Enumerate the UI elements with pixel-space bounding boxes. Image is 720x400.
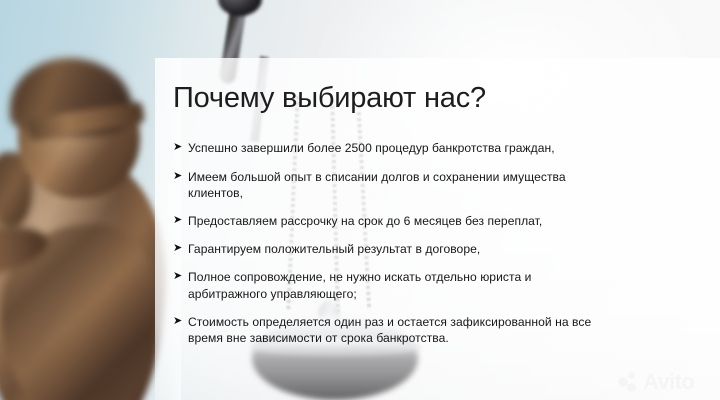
list-item-label: Полное сопровождение, не нужно искать от… [188,270,531,300]
avito-logo-icon [618,372,640,393]
arrow-bullet-icon: ➤ [173,241,182,257]
content-area: Почему выбирают нас? ➤ Успешно завершили… [173,58,703,346]
lady-justice-statue-icon [0,34,181,400]
promo-slide: Почему выбирают нас? ➤ Успешно завершили… [0,0,720,400]
list-item-label: Имеем большой опыт в списании долгов и с… [188,170,566,200]
list-item: ➤ Полное сопровождение, не нужно искать … [173,269,612,301]
list-item-label: Стоимость определяется один раз и остает… [188,315,591,345]
avito-dot [627,383,636,392]
arrow-bullet-icon: ➤ [173,169,182,185]
page-title: Почему выбирают нас? [173,58,703,114]
list-item: ➤ Успешно завершили более 2500 процедур … [173,140,703,156]
arrow-bullet-icon: ➤ [173,269,182,285]
avito-dot [628,372,635,379]
list-item-label: Гарантируем положительный результат в до… [188,242,480,256]
benefits-list: ➤ Успешно завершили более 2500 процедур … [173,140,703,346]
list-item-label: Успешно завершили более 2500 процедур ба… [188,141,555,155]
arrow-bullet-icon: ➤ [173,140,182,156]
list-item: ➤ Гарантируем положительный результат в … [173,241,703,257]
list-item-label: Предоставляем рассрочку на срок до 6 мес… [188,214,542,228]
list-item: ➤ Имеем большой опыт в списании долгов и… [173,169,612,201]
list-item: ➤ Стоимость определяется один раз и оста… [173,314,618,346]
arrow-bullet-icon: ➤ [173,213,182,229]
list-item: ➤ Предоставляем рассрочку на срок до 6 м… [173,213,703,229]
avito-watermark: Avito [618,368,712,396]
arrow-bullet-icon: ➤ [173,314,182,330]
scales-knob [218,0,262,16]
avito-watermark-label: Avito [643,371,694,393]
